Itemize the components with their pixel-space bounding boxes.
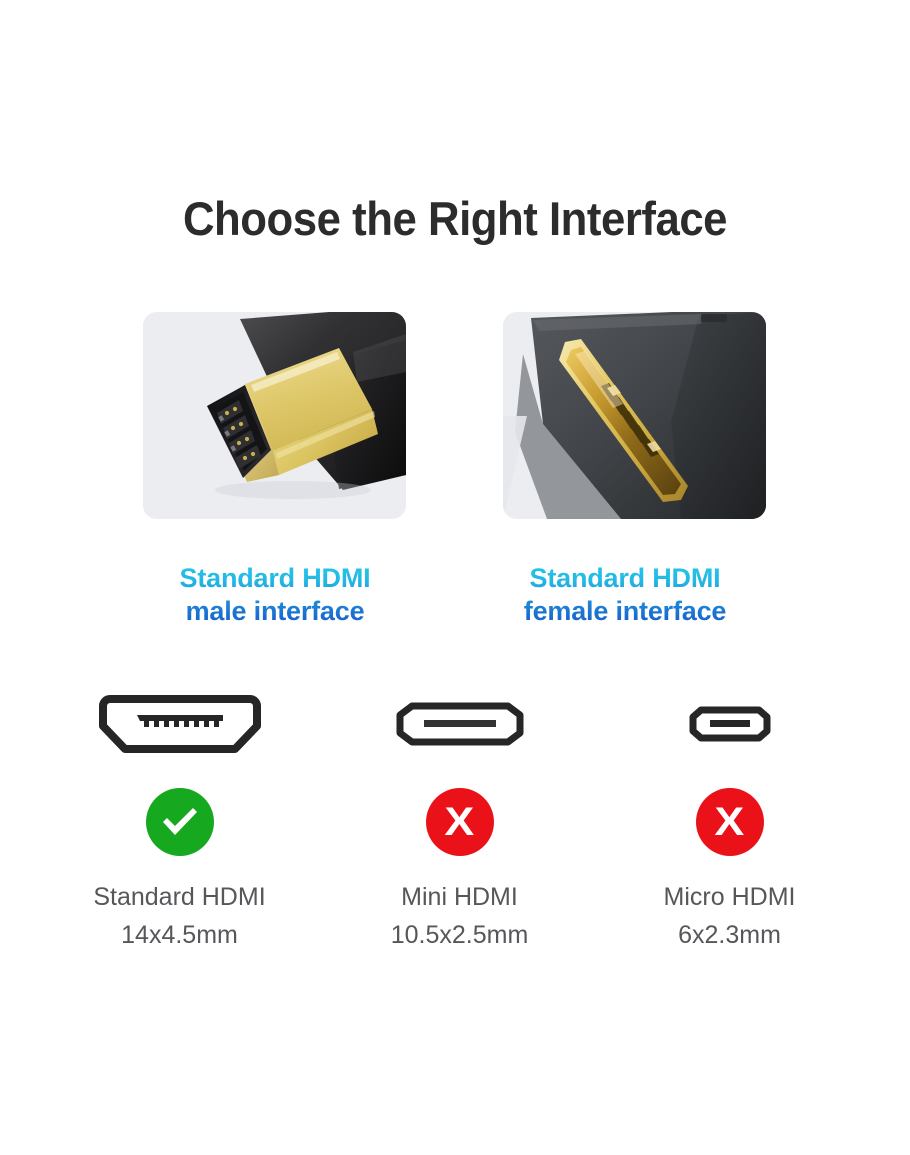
- hdmi-male-label-line1: Standard HDMI: [105, 562, 445, 595]
- hdmi-female-label-line1: Standard HDMI: [455, 562, 795, 595]
- hdmi-female-label: Standard HDMI female interface: [455, 562, 795, 628]
- hdmi-female-photo-panel: [503, 312, 766, 519]
- status-badge: [146, 788, 214, 856]
- hdmi-female-port-illustration: [503, 312, 766, 519]
- status-badge-wrapper: X: [578, 783, 881, 861]
- check-icon: [160, 805, 200, 839]
- connector-name: Micro HDMI: [578, 878, 881, 916]
- status-badge-wrapper: [28, 783, 331, 861]
- connector-photo-row: [0, 312, 910, 520]
- standard-hdmi-outline-icon: [28, 688, 331, 760]
- comparison-column-micro-hdmi: X Micro HDMI 6x2.3mm: [578, 688, 881, 998]
- mini-hdmi-outline-icon: [308, 688, 611, 760]
- connector-caption: Micro HDMI 6x2.3mm: [578, 878, 881, 954]
- status-badge: X: [696, 788, 764, 856]
- hdmi-male-label: Standard HDMI male interface: [105, 562, 445, 628]
- hdmi-female-label-line2: female interface: [455, 595, 795, 628]
- x-icon: X: [715, 802, 745, 842]
- comparison-column-mini-hdmi: X Mini HDMI 10.5x2.5mm: [308, 688, 611, 998]
- hdmi-male-connector-illustration: [143, 312, 406, 519]
- connector-name: Standard HDMI: [28, 878, 331, 916]
- connector-size: 14x4.5mm: [28, 916, 331, 954]
- connector-name: Mini HDMI: [308, 878, 611, 916]
- infographic-page: Choose the Right Interface: [0, 0, 910, 1155]
- connector-caption: Mini HDMI 10.5x2.5mm: [308, 878, 611, 954]
- status-badge: X: [426, 788, 494, 856]
- x-icon: X: [445, 802, 475, 842]
- connector-size: 10.5x2.5mm: [308, 916, 611, 954]
- comparison-column-standard-hdmi: Standard HDMI 14x4.5mm: [28, 688, 331, 998]
- hdmi-male-photo-panel: [143, 312, 406, 519]
- connector-caption: Standard HDMI 14x4.5mm: [28, 878, 331, 954]
- status-badge-wrapper: X: [308, 783, 611, 861]
- hdmi-male-label-line2: male interface: [105, 595, 445, 628]
- page-title: Choose the Right Interface: [32, 188, 878, 250]
- micro-hdmi-outline-icon: [578, 688, 881, 760]
- connector-size: 6x2.3mm: [578, 916, 881, 954]
- connector-comparison-row: Standard HDMI 14x4.5mm X Mini HDMI 10.5x…: [0, 688, 910, 998]
- connector-label-row: Standard HDMI male interface Standard HD…: [0, 562, 910, 640]
